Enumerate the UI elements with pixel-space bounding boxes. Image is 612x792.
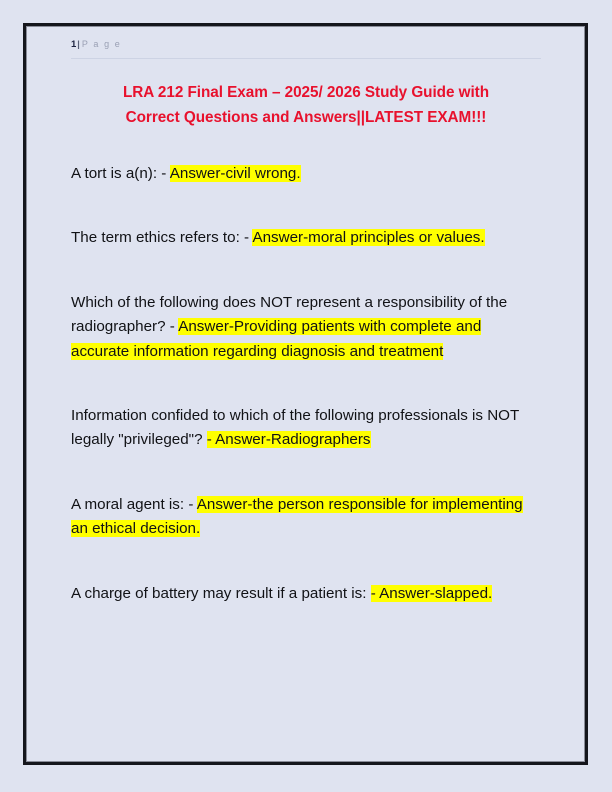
question-prompt: A moral agent is: - [71, 496, 197, 513]
highlighted-answer: - Answer-Radiographers [207, 431, 371, 448]
highlighted-answer: - Answer-slapped. [371, 585, 493, 602]
qa-item: The term ethics refers to: - Answer-mora… [71, 226, 541, 250]
question-prompt: A tort is a(n): - [71, 165, 170, 182]
qa-item: Information confided to which of the fol… [71, 404, 541, 453]
qa-item: A moral agent is: - Answer-the person re… [71, 493, 541, 542]
document-page: 1|P a g e LRA 212 Final Exam – 2025/ 202… [0, 0, 612, 792]
running-header: 1|P a g e [71, 37, 541, 55]
page-title-line-1: LRA 212 Final Exam – 2025/ 2026 Study Gu… [123, 84, 489, 101]
header-page-label: P a g e [82, 39, 122, 49]
header-divider [71, 58, 541, 59]
page-content: 1|P a g e LRA 212 Final Exam – 2025/ 202… [26, 26, 585, 762]
highlighted-answer: Answer-moral principles or values. [252, 229, 484, 246]
qa-item: Which of the following does NOT represen… [71, 291, 541, 364]
question-prompt: The term ethics refers to: - [71, 229, 252, 246]
qa-item: A tort is a(n): - Answer-civil wrong. [71, 162, 541, 186]
page-title: LRA 212 Final Exam – 2025/ 2026 Study Gu… [71, 80, 541, 130]
question-answer-list: A tort is a(n): - Answer-civil wrong. Th… [71, 162, 541, 606]
highlighted-answer: Answer-civil wrong. [170, 165, 301, 182]
qa-item: A charge of battery may result if a pati… [71, 582, 541, 606]
question-prompt: A charge of battery may result if a pati… [71, 585, 371, 602]
page-title-line-2: Correct Questions and Answers||LATEST EX… [126, 109, 487, 126]
